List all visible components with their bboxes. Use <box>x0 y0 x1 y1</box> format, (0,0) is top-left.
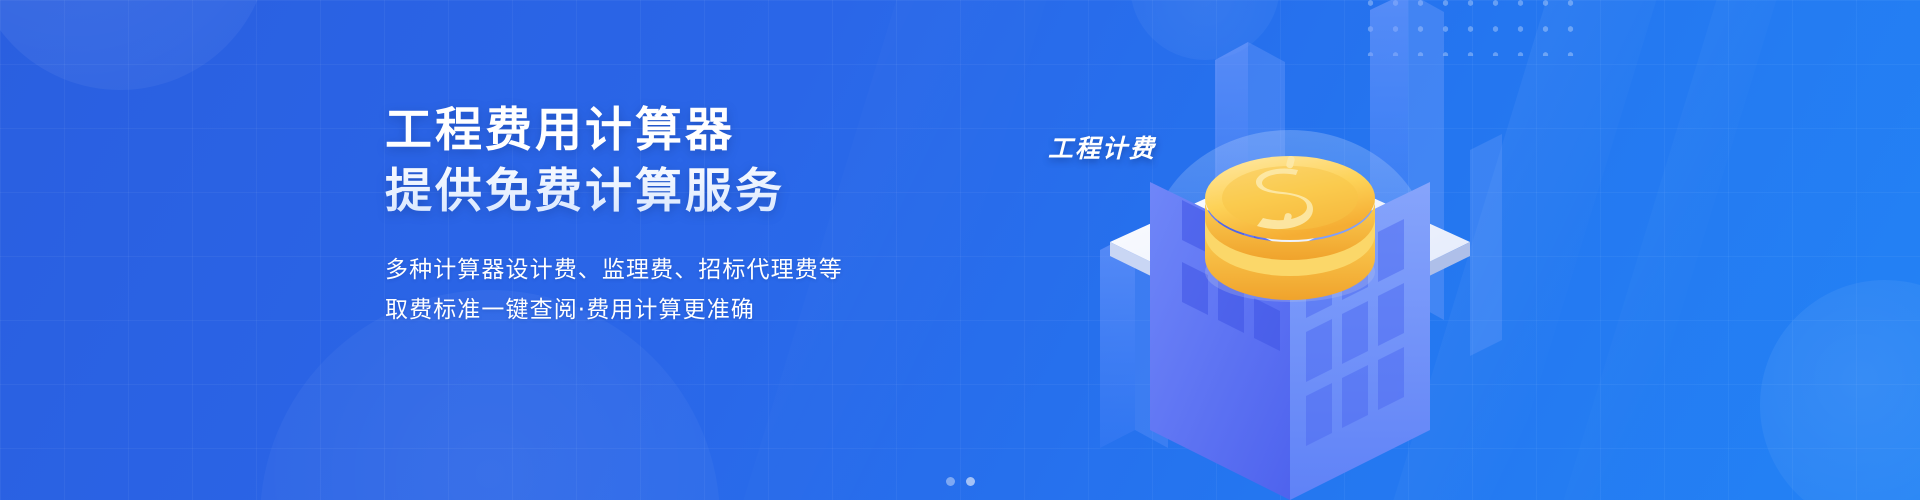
carousel-dot-2[interactable] <box>966 477 975 486</box>
banner-text-block: 工程费用计算器 提供免费计算服务 多种计算器设计费、监理费、招标代理费等 取费标… <box>385 104 1005 330</box>
decorative-circle-right <box>1760 280 1920 500</box>
description-line-2: 取费标准一键查阅·费用计算更准确 <box>385 291 1005 331</box>
hero-banner: 工程费用计算器 提供免费计算服务 多种计算器设计费、监理费、招标代理费等 取费标… <box>0 0 1920 500</box>
headline-line-1: 工程费用计算器 <box>385 103 735 158</box>
illustration-badge-label: 工程计费 <box>1048 129 1156 165</box>
banner-headline: 工程费用计算器 提供免费计算服务 <box>385 104 1005 219</box>
banner-description: 多种计算器设计费、监理费、招标代理费等 取费标准一键查阅·费用计算更准确 <box>385 251 1005 330</box>
hero-illustration <box>1040 0 1600 500</box>
carousel-dot-1[interactable] <box>946 477 955 486</box>
headline-line-2: 提供免费计算服务 <box>385 165 1005 220</box>
description-line-1: 多种计算器设计费、监理费、招标代理费等 <box>385 257 843 283</box>
carousel-indicators[interactable] <box>0 477 1920 486</box>
decorative-circle-top-left <box>0 0 270 90</box>
